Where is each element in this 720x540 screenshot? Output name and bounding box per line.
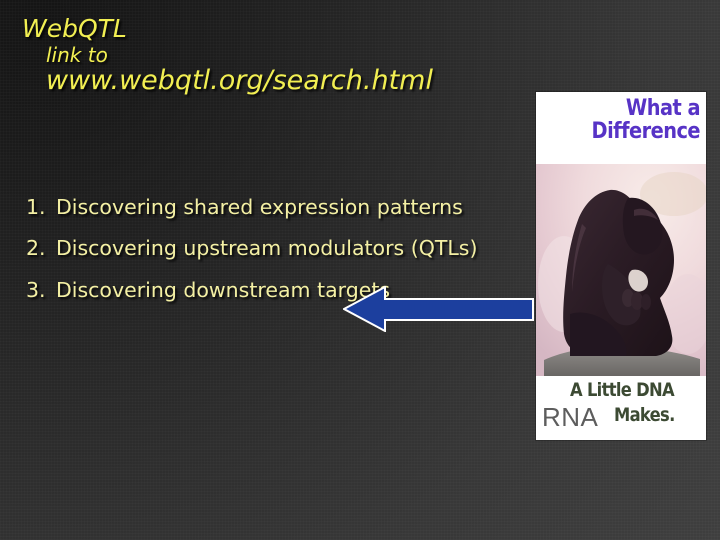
list-item: 2. Discovering upstream modulators (QTLs… (26, 237, 506, 260)
list-item-number: 3. (26, 279, 56, 302)
poster-headline-line-2: Difference (556, 120, 700, 143)
slide-title-url: www.webqtl.org/search.html (46, 67, 433, 96)
slide-title-line-2: link to (46, 45, 433, 66)
list-item-number: 1. (26, 196, 56, 219)
poster-footer-line-2: Makes. (614, 404, 675, 426)
list-item-label: Discovering upstream modulators (QTLs) (56, 237, 506, 260)
slide-title-block: WebQTL link to www.webqtl.org/search.htm… (20, 16, 433, 95)
poster-footer: A Little DNA Makes. RNA (536, 376, 706, 440)
list-item-label: Discovering shared expression patterns (56, 196, 506, 219)
poster-footer-line-1: A Little DNA (570, 379, 674, 401)
poster-image: What a Difference (536, 92, 706, 440)
poster-headline: What a Difference (536, 92, 706, 164)
list-item: 1. Discovering shared expression pattern… (26, 196, 506, 219)
poster-headline-line-1: What a (556, 97, 700, 120)
rna-overlay-label: RNA (542, 402, 598, 433)
presentation-slide: WebQTL link to www.webqtl.org/search.htm… (0, 0, 720, 540)
list-item-number: 2. (26, 237, 56, 260)
left-arrow-icon (343, 286, 534, 332)
chimpanzee-photo (536, 164, 706, 376)
slide-title-line-1: WebQTL (22, 16, 433, 43)
